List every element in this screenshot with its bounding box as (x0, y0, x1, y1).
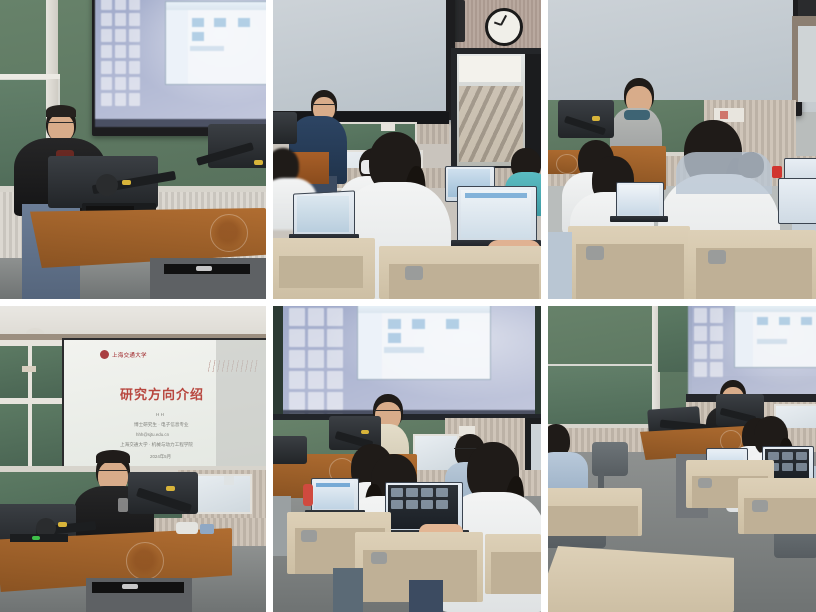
desktop-icon (308, 392, 324, 410)
desktop-icon (129, 61, 140, 74)
desktop-icon (115, 13, 126, 26)
laptop[interactable] (778, 178, 816, 224)
desktop-icon (694, 308, 707, 323)
desktop-icon (115, 77, 126, 90)
desktop-icon (308, 329, 324, 347)
file-explorer-window[interactable] (165, 1, 266, 85)
photo-panel-4[interactable]: 上海交通大学 研究方向介绍 H H 博士研究生 · 电子信息专业 hhh@sjt… (0, 306, 266, 612)
desktop-icon (101, 77, 112, 90)
desktop-icon (327, 392, 343, 410)
file-explorer-window[interactable] (357, 306, 491, 380)
desktop-icon (327, 371, 343, 389)
slide-line: hhh@sjtu.edu.cn (136, 432, 169, 437)
desktop-icon (710, 308, 723, 323)
desktop-icon (101, 13, 112, 26)
desktop-icon (101, 61, 112, 74)
desktop-icon (308, 371, 324, 389)
photo-panel-2[interactable] (273, 0, 541, 299)
slide-line: 博士研究生 · 电子信息专业 (134, 422, 189, 428)
desktop-icon (129, 29, 140, 42)
desktop-icon (129, 77, 140, 90)
photo-panel-6[interactable] (548, 306, 816, 612)
water-bottle (772, 166, 782, 178)
desktop-icon (115, 45, 126, 58)
desktop-icon (308, 308, 324, 326)
desktop-icon (101, 45, 112, 58)
desktop-icon (115, 29, 126, 42)
slide-line: H H (156, 412, 164, 417)
slide-line: 上海交通大学 · 机械与动力工程学院 (120, 442, 193, 448)
desktop-icon (694, 362, 707, 377)
desktop-icon (129, 0, 140, 10)
photo-panel-5[interactable] (273, 306, 541, 612)
desktop-icon (710, 344, 723, 359)
photo-panel-3[interactable] (548, 0, 816, 299)
desktop-icon (289, 308, 305, 326)
glasses-icon (47, 122, 75, 128)
file-explorer-window[interactable] (734, 306, 816, 368)
desktop-icon (129, 45, 140, 58)
slide-title: 研究方向介绍 (120, 384, 204, 403)
desktop-icon (101, 93, 112, 106)
desktop-icon (289, 392, 305, 410)
projected-desktop (688, 306, 816, 402)
desktop-icon (101, 29, 112, 42)
desktop-icon (115, 61, 126, 74)
desktop-icon (101, 0, 112, 10)
desktop-icon (129, 93, 140, 106)
water-bottle (303, 484, 313, 506)
glasses-icon (312, 104, 336, 109)
desktop-icon (289, 350, 305, 368)
photo-collage: 上海交通大学 研究方向介绍 H H 博士研究生 · 电子信息专业 hhh@sjt… (0, 0, 816, 612)
glasses-icon (97, 470, 129, 476)
desktop-icon (327, 350, 343, 368)
desktop-icon (710, 362, 723, 377)
desktop-icon (694, 344, 707, 359)
desktop-icon (115, 0, 126, 10)
desktop-icon (710, 326, 723, 341)
desktop-icon (289, 329, 305, 347)
photo-panel-1[interactable] (0, 0, 266, 299)
desktop-icon (115, 93, 126, 106)
desktop-icon (129, 13, 140, 26)
chair (592, 442, 628, 476)
desktop-icon (327, 308, 343, 326)
desktop-icon (694, 326, 707, 341)
desktop-icon (289, 371, 305, 389)
desktop-icon (308, 350, 324, 368)
slide-university-logo: 上海交通大学 (112, 351, 147, 359)
wall-clock (485, 8, 523, 46)
desktop-icon (327, 329, 343, 347)
projected-desktop (281, 306, 537, 418)
slide-line: 2024年5月 (150, 454, 171, 460)
